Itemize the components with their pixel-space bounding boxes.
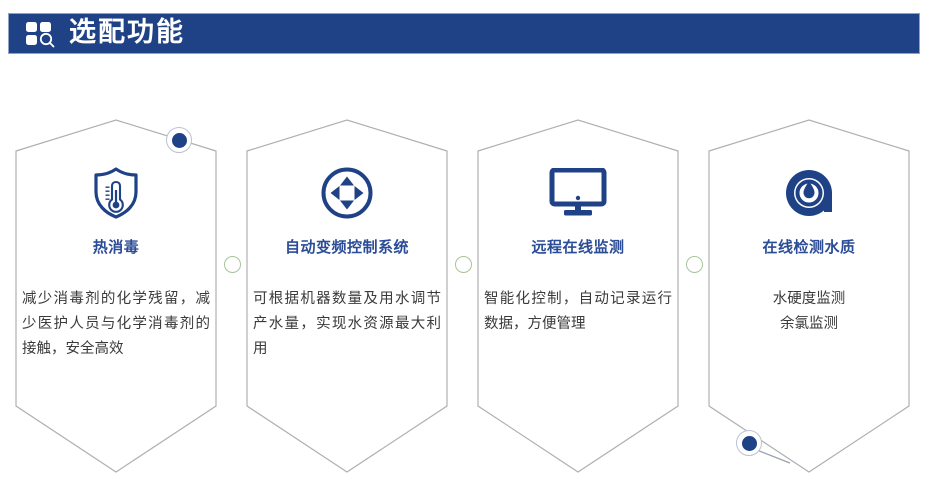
four-direction-arrows-icon bbox=[320, 164, 374, 222]
monitor-icon bbox=[549, 164, 607, 222]
green-circle-connector-1 bbox=[224, 256, 241, 273]
card-title: 热消毒 bbox=[93, 236, 140, 257]
blue-dot-marker-top bbox=[166, 127, 192, 153]
page-title: 选配功能 bbox=[69, 19, 185, 46]
green-circle-connector-2 bbox=[455, 256, 472, 273]
card-description: 智能化控制，自动记录运行数据，方便管理 bbox=[484, 287, 672, 337]
card-description: 减少消毒剂的化学残留，减少医护人员与化学消毒剂的接触，安全高效 bbox=[22, 287, 210, 362]
feature-card-4[interactable]: 在线检测水质 水硬度监测 余氯监测 bbox=[693, 118, 925, 474]
card-title: 在线检测水质 bbox=[762, 236, 855, 257]
grid-search-icon bbox=[25, 20, 59, 48]
card-description: 可根据机器数量及用水调节产水量，实现水资源最大利用 bbox=[253, 287, 441, 362]
green-circle-connector-3 bbox=[686, 256, 703, 273]
card-description: 水硬度监测 余氯监测 bbox=[715, 287, 903, 337]
card-title: 自动变频控制系统 bbox=[285, 236, 409, 257]
feature-card-3[interactable]: 远程在线监测 智能化控制，自动记录运行数据，方便管理 bbox=[462, 118, 694, 474]
water-quality-droplet-icon bbox=[782, 164, 836, 222]
feature-card-1[interactable]: 热消毒 减少消毒剂的化学残留，减少医护人员与化学消毒剂的接触，安全高效 bbox=[0, 118, 232, 474]
shield-thermometer-icon bbox=[90, 164, 142, 222]
feature-card-2[interactable]: 自动变频控制系统 可根据机器数量及用水调节产水量，实现水资源最大利用 bbox=[231, 118, 463, 474]
blue-dot-marker-bottom bbox=[736, 430, 762, 456]
card-title: 远程在线监测 bbox=[531, 236, 624, 257]
section-header-bar: 选配功能 bbox=[8, 13, 920, 54]
feature-cards-row: 热消毒 减少消毒剂的化学残留，减少医护人员与化学消毒剂的接触，安全高效 自动变频… bbox=[0, 118, 928, 478]
